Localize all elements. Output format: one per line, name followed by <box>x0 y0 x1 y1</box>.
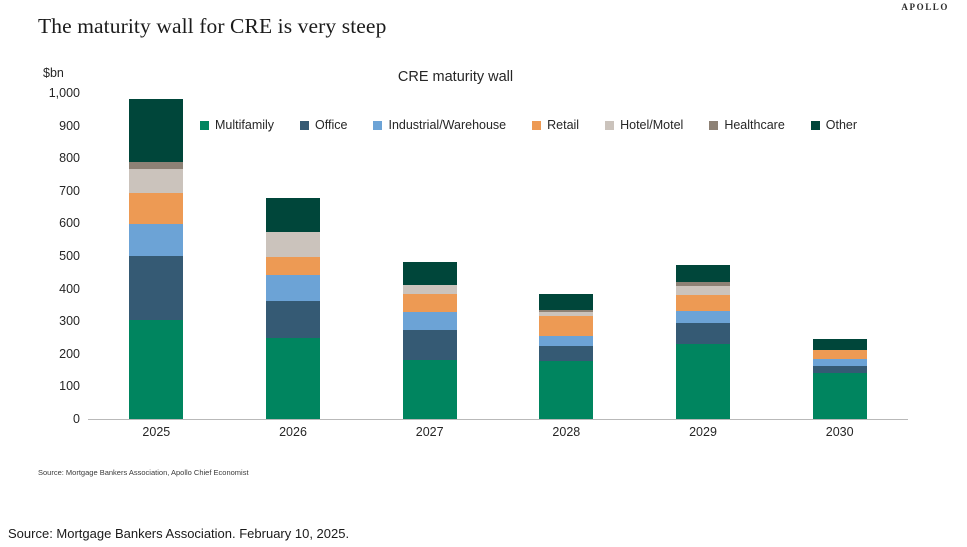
bar-segment[interactable] <box>676 344 730 419</box>
y-axis: 1,0009008007006005004003002001000 <box>0 93 80 419</box>
bar-segment[interactable] <box>813 366 867 373</box>
bar-segment[interactable] <box>676 265 730 282</box>
slide: APOLLO The maturity wall for CRE is very… <box>0 0 967 489</box>
y-axis-tick-label: 800 <box>0 151 80 165</box>
bar-2026[interactable] <box>266 198 320 419</box>
bar-2025[interactable] <box>129 99 183 419</box>
y-axis-tick-label: 300 <box>0 314 80 328</box>
bar-segment[interactable] <box>676 286 730 294</box>
y-axis-tick-label: 500 <box>0 249 80 263</box>
caption-text: Source: Mortgage Bankers Association. Fe… <box>8 526 349 541</box>
bar-segment[interactable] <box>813 359 867 366</box>
bar-segment[interactable] <box>129 99 183 162</box>
bar-segment[interactable] <box>129 162 183 169</box>
bar-segment[interactable] <box>813 373 867 419</box>
bar-segment[interactable] <box>266 232 320 257</box>
bar-segment[interactable] <box>403 330 457 360</box>
bar-segment[interactable] <box>539 316 593 335</box>
bar-segment[interactable] <box>266 301 320 339</box>
y-axis-tick-label: 200 <box>0 347 80 361</box>
bar-segment[interactable] <box>266 275 320 300</box>
chart-source-note: Source: Mortgage Bankers Association, Ap… <box>38 468 249 477</box>
chart-title: CRE maturity wall <box>0 69 967 85</box>
caption-strip: Source: Mortgage Bankers Association. Fe… <box>0 489 967 547</box>
bar-segment[interactable] <box>266 338 320 419</box>
bar-segment[interactable] <box>129 169 183 192</box>
x-axis-line <box>88 419 908 420</box>
bar-segment[interactable] <box>129 193 183 225</box>
x-axis-tick-label: 2025 <box>96 425 216 439</box>
x-axis-tick-label: 2029 <box>643 425 763 439</box>
bar-segment[interactable] <box>266 198 320 232</box>
y-axis-tick-label: 400 <box>0 282 80 296</box>
chart-title-text: CRE maturity wall <box>398 69 513 85</box>
y-axis-tick-label: 700 <box>0 184 80 198</box>
x-axis-tick-label: 2026 <box>233 425 353 439</box>
bar-segment[interactable] <box>539 346 593 361</box>
bar-segment[interactable] <box>403 262 457 284</box>
bar-segment[interactable] <box>129 256 183 320</box>
bar-segment[interactable] <box>403 360 457 419</box>
y-axis-tick-label: 1,000 <box>0 86 80 100</box>
bar-segment[interactable] <box>539 294 593 310</box>
bar-segment[interactable] <box>403 294 457 312</box>
bar-segment[interactable] <box>129 224 183 256</box>
bar-2028[interactable] <box>539 294 593 419</box>
bar-segment[interactable] <box>403 312 457 330</box>
apollo-logo: APOLLO <box>901 2 949 12</box>
bar-segment[interactable] <box>403 285 457 294</box>
x-axis-tick-label: 2027 <box>370 425 490 439</box>
bar-segment[interactable] <box>676 311 730 323</box>
page-title: The maturity wall for CRE is very steep <box>38 14 386 39</box>
bar-segment[interactable] <box>539 361 593 419</box>
bar-2027[interactable] <box>403 262 457 419</box>
y-axis-tick-label: 100 <box>0 379 80 393</box>
bar-segment[interactable] <box>539 336 593 346</box>
bar-segment[interactable] <box>129 320 183 419</box>
x-axis-tick-label: 2028 <box>506 425 626 439</box>
y-axis-tick-label: 600 <box>0 216 80 230</box>
bar-segment[interactable] <box>266 257 320 275</box>
bar-segment[interactable] <box>813 339 867 349</box>
bar-2029[interactable] <box>676 265 730 419</box>
x-axis-tick-label: 2030 <box>780 425 900 439</box>
bar-segment[interactable] <box>813 350 867 359</box>
y-axis-tick-label: 0 <box>0 412 80 426</box>
bar-2030[interactable] <box>813 339 867 419</box>
y-axis-tick-label: 900 <box>0 119 80 133</box>
plot-area <box>88 93 908 419</box>
bar-segment[interactable] <box>676 323 730 344</box>
bar-segment[interactable] <box>676 295 730 311</box>
